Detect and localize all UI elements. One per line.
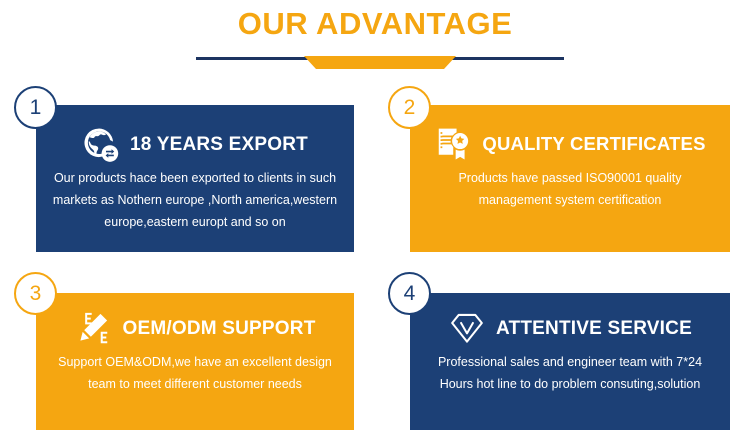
card-description: Support OEM&ODM,we have an excellent des… <box>50 351 340 395</box>
card-heading: 18 YEARS EXPORT <box>36 123 354 165</box>
header: OUR ADVANTAGE <box>0 0 750 80</box>
card-description: Our products hace been exported to clien… <box>50 167 340 233</box>
card-heading: QUALITY CERTIFICATES <box>410 123 730 165</box>
card-number-label: 1 <box>30 97 42 118</box>
advantage-card-4: ATTENTIVE SERVICE Professional sales and… <box>410 293 730 430</box>
card-number-label: 3 <box>30 283 42 304</box>
card-number-label: 2 <box>404 97 416 118</box>
card-heading: ATTENTIVE SERVICE <box>410 307 730 349</box>
card-number-badge-1: 1 <box>14 86 57 129</box>
card-number-label: 4 <box>404 283 416 304</box>
card-title: QUALITY CERTIFICATES <box>482 135 705 154</box>
advantage-card-2: QUALITY CERTIFICATES Products have passe… <box>410 105 730 252</box>
card-description: Products have passed ISO90001 quality ma… <box>424 167 716 211</box>
globe-exchange-icon <box>82 125 120 163</box>
advantage-card-1: 18 YEARS EXPORT Our products hace been e… <box>36 105 354 252</box>
card-title: 18 YEARS EXPORT <box>130 135 308 154</box>
certificate-award-icon <box>434 125 472 163</box>
card-description: Professional sales and engineer team wit… <box>424 351 716 395</box>
card-title: ATTENTIVE SERVICE <box>496 319 692 338</box>
card-number-badge-2: 2 <box>388 86 431 129</box>
page-title: OUR ADVANTAGE <box>0 4 750 44</box>
card-number-badge-4: 4 <box>388 272 431 315</box>
card-title: OEM/ODM SUPPORT <box>122 319 315 338</box>
card-heading: OEM/ODM SUPPORT <box>36 307 354 349</box>
advantage-card-3: OEM/ODM SUPPORT Support OEM&ODM,we have … <box>36 293 354 430</box>
diamond-check-icon <box>448 309 486 347</box>
title-divider <box>196 50 564 72</box>
pencil-design-icon <box>74 309 112 347</box>
card-number-badge-3: 3 <box>14 272 57 315</box>
